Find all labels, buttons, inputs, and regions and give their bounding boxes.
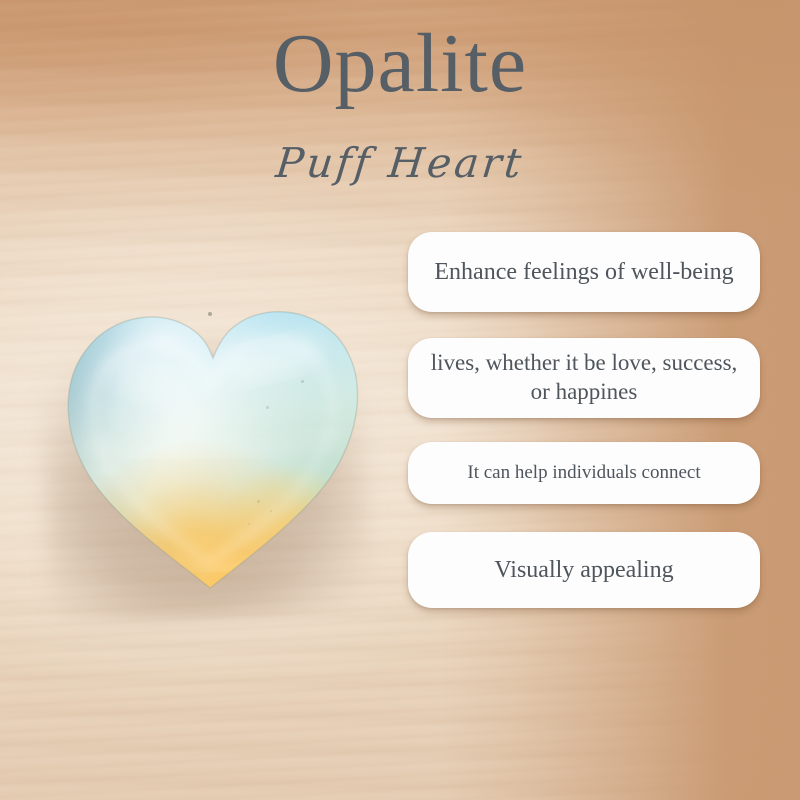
feature-card: It can help individuals connect xyxy=(408,442,760,504)
stone-speck xyxy=(208,312,212,316)
heart-stone-illustration xyxy=(58,288,370,600)
feature-card-text: It can help individuals connect xyxy=(428,462,740,485)
stone-speck xyxy=(248,523,250,525)
stone-speck xyxy=(301,380,304,383)
feature-card-list: Enhance feelings of well-being lives, wh… xyxy=(408,0,760,800)
feature-card-text: Visually appealing xyxy=(428,556,740,585)
feature-card: Enhance feelings of well-being xyxy=(408,232,760,312)
feature-card: lives, whether it be love, success, or h… xyxy=(408,338,760,418)
feature-card: Visually appealing xyxy=(408,532,760,608)
stone-speck xyxy=(266,406,269,409)
product-infographic-canvas: Opalite Puff Heart xyxy=(0,0,800,800)
stone-body xyxy=(58,288,370,600)
stone-speck xyxy=(257,500,260,503)
feature-card-text: Enhance feelings of well-being xyxy=(428,257,740,287)
opalite-heart-stone xyxy=(58,288,370,600)
stone-speck xyxy=(270,510,272,512)
feature-card-text: lives, whether it be love, success, or h… xyxy=(428,349,740,407)
